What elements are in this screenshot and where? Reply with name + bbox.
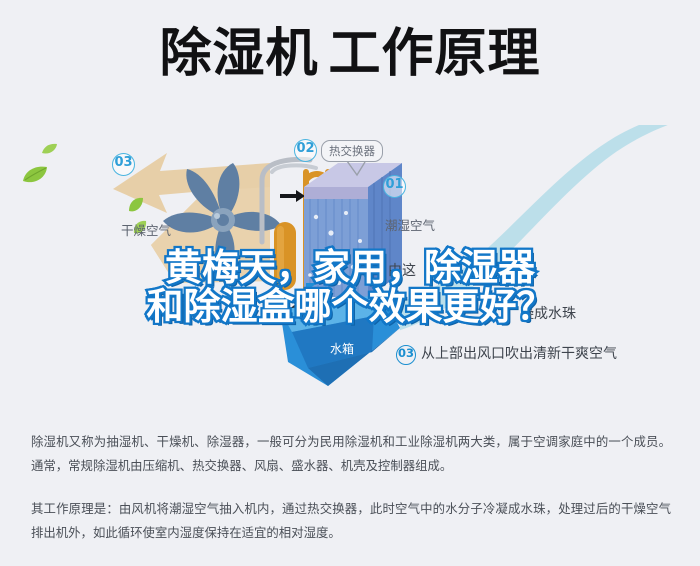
article-paragraph-2: 其工作原理是：由风机将潮湿空气抽入机内，通过热交换器，此时空气中的水分子冷凝成水… <box>31 497 671 545</box>
page-title: 除湿机工作原理 <box>0 28 700 80</box>
label-dry-air: 干燥空气 <box>121 220 171 239</box>
leaf-icon <box>22 165 48 185</box>
dehumidifier-diagram: 03 干燥空气 02 热交换器 01 潮湿空气 水箱 04由这 凝成水珠 03从… <box>0 125 700 390</box>
article-paragraph-1: 除湿机又称为抽湿机、干燥机、除湿器，一般可分为民用除湿机和工业除湿机两大类，属于… <box>31 430 671 478</box>
step-text-03: 从上部出风口吹出清新干爽空气 <box>421 346 617 362</box>
step-number-04: 04 <box>363 262 383 282</box>
page-title-part-b: 工作原理 <box>329 24 541 84</box>
step-number-03: 03 <box>396 345 416 365</box>
callout-heat-exchanger: 热交换器 <box>321 140 383 162</box>
marker-01-humid-air: 01 <box>383 175 406 198</box>
marker-03-dry-air: 03 <box>112 153 135 176</box>
label-humid-air: 潮湿空气 <box>385 215 435 234</box>
step-caption-04: 04由这 <box>363 260 416 282</box>
callout-pointer-icon <box>345 161 367 179</box>
step-caption-03: 03从上部出风口吹出清新干爽空气 <box>396 343 617 365</box>
step-text-02: 凝成水珠 <box>520 306 576 322</box>
article-body: 除湿机又称为抽湿机、干燥机、除湿器，一般可分为民用除湿机和工业除湿机两大类，属于… <box>0 400 700 566</box>
step-text-04: 由这 <box>388 263 416 279</box>
poster-root: 除湿机工作原理 <box>0 0 700 566</box>
page-title-text: 除湿机工作原理 <box>159 28 540 80</box>
label-water-tank: 水箱 <box>330 340 354 357</box>
leaf-icon <box>42 143 57 155</box>
step-caption-02: 凝成水珠 <box>520 303 576 323</box>
leaf-icon <box>128 197 144 213</box>
marker-02-heat-exchanger: 02 <box>294 139 317 162</box>
page-title-part-a: 除湿机 <box>159 24 318 84</box>
